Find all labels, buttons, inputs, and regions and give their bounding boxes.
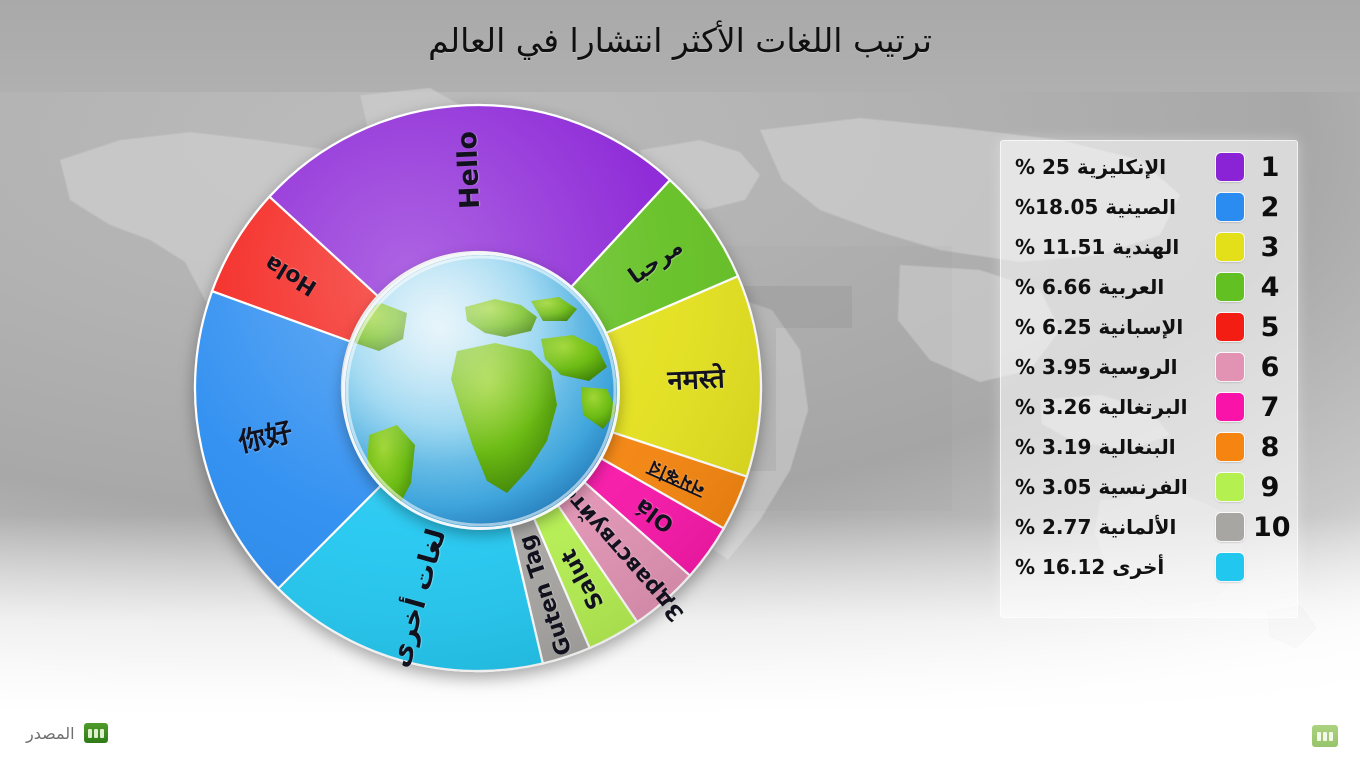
legend-color-swatch xyxy=(1216,353,1244,381)
source-label: المصدر xyxy=(26,724,75,743)
legend-label: الألمانية 2.77 % xyxy=(1007,515,1207,539)
legend-row: 1الإنكليزية 25 % xyxy=(1007,147,1289,187)
legend-rank: 7 xyxy=(1253,394,1287,421)
legend-label: البرتغالية 3.26 % xyxy=(1007,395,1207,419)
legend-rank: 9 xyxy=(1253,474,1287,501)
legend-rank: 1 xyxy=(1253,154,1287,181)
legend-color-swatch xyxy=(1216,393,1244,421)
legend-label: الفرنسية 3.05 % xyxy=(1007,475,1207,499)
legend-label: الإسبانية 6.25 % xyxy=(1007,315,1207,339)
legend-row: 8البنغالية 3.19 % xyxy=(1007,427,1289,467)
legend-row: 2الصينية 18.05% xyxy=(1007,187,1289,227)
legend-color-swatch xyxy=(1216,433,1244,461)
legend-rank: 8 xyxy=(1253,434,1287,461)
legend-row: أخرى 16.12 % xyxy=(1007,547,1289,587)
legend-row: 4العربية 6.66 % xyxy=(1007,267,1289,307)
legend-rank: 4 xyxy=(1253,274,1287,301)
legend-row: 10الألمانية 2.77 % xyxy=(1007,507,1289,547)
legend-row: 3الهندية 11.51 % xyxy=(1007,227,1289,267)
infographic-canvas: ترتيب اللغات الأكثر انتشارا في العالم Ho… xyxy=(0,0,1360,765)
legend-color-swatch xyxy=(1216,193,1244,221)
legend-color-swatch xyxy=(1216,553,1244,581)
legend-label: الإنكليزية 25 % xyxy=(1007,155,1207,179)
legend-label: العربية 6.66 % xyxy=(1007,275,1207,299)
legend-label: الصينية 18.05% xyxy=(1007,195,1207,219)
legend-row: 6الروسية 3.95 % xyxy=(1007,347,1289,387)
source-mark-icon xyxy=(84,723,108,743)
legend-panel: 1الإنكليزية 25 %2الصينية 18.05%3الهندية … xyxy=(1000,140,1298,618)
legend-color-swatch xyxy=(1216,153,1244,181)
legend-color-swatch xyxy=(1216,273,1244,301)
legend-row: 5الإسبانية 6.25 % xyxy=(1007,307,1289,347)
corner-logo-icon xyxy=(1312,725,1338,747)
legend-label: البنغالية 3.19 % xyxy=(1007,435,1207,459)
legend-color-swatch xyxy=(1216,513,1244,541)
legend-rank: 3 xyxy=(1253,234,1287,261)
legend-rank: 10 xyxy=(1253,514,1287,541)
legend-rank: 5 xyxy=(1253,314,1287,341)
page-title: ترتيب اللغات الأكثر انتشارا في العالم xyxy=(0,18,1360,64)
legend-label: أخرى 16.12 % xyxy=(1007,555,1207,579)
legend-rank: 6 xyxy=(1253,354,1287,381)
legend-row: 7البرتغالية 3.26 % xyxy=(1007,387,1289,427)
legend-color-swatch xyxy=(1216,313,1244,341)
legend-label: الروسية 3.95 % xyxy=(1007,355,1207,379)
legend-color-swatch xyxy=(1216,473,1244,501)
legend-rank: 2 xyxy=(1253,194,1287,221)
legend-label: الهندية 11.51 % xyxy=(1007,235,1207,259)
globe-illustration xyxy=(342,252,620,530)
legend-color-swatch xyxy=(1216,233,1244,261)
legend-row: 9الفرنسية 3.05 % xyxy=(1007,467,1289,507)
source-credit: المصدر xyxy=(26,723,108,743)
